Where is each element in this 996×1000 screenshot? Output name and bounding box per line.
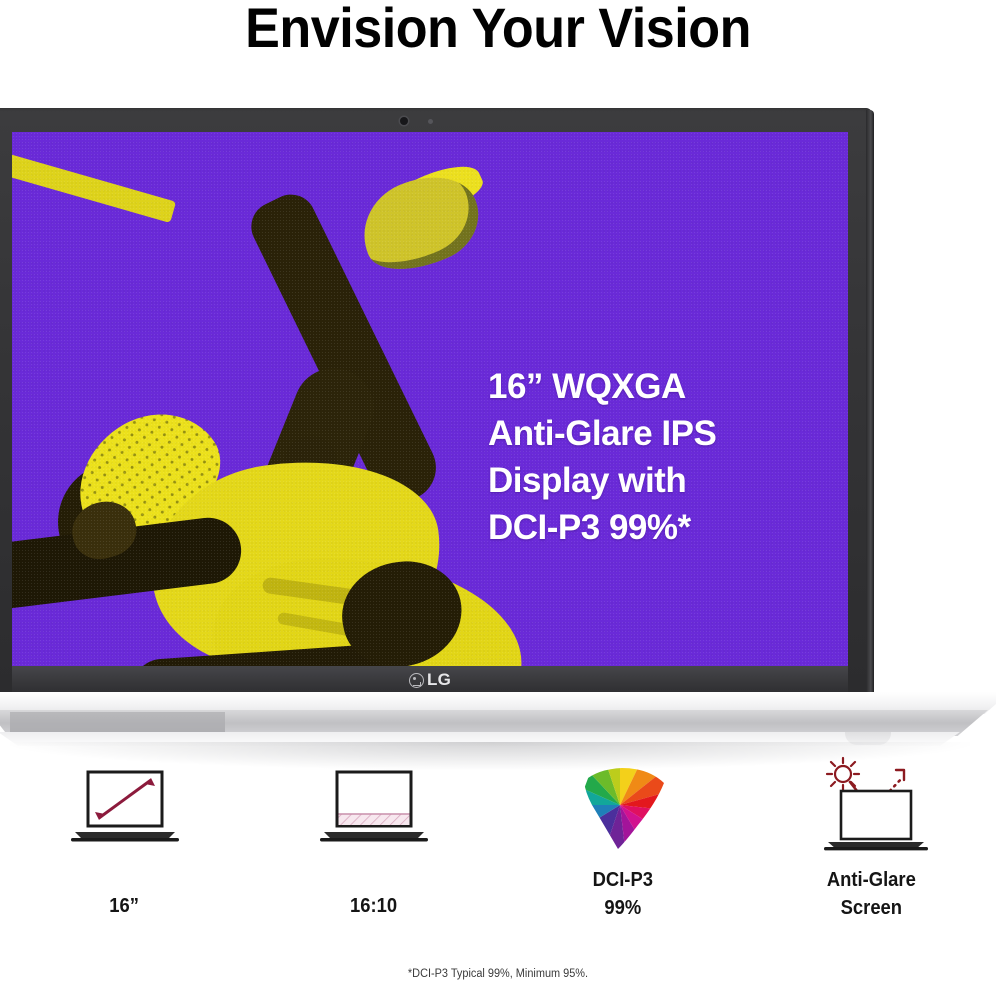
product-feature-banner: Envision Your Vision 1 — [0, 0, 996, 1000]
laptop-lid-right-edge — [866, 110, 874, 694]
color-gamut-triangle-icon — [568, 752, 678, 862]
laptop-illustration: 16” WQXGA Anti-Glare IPS Display with DC… — [0, 108, 996, 728]
laptop-base-strip — [10, 712, 225, 734]
feature-color-gamut: DCI-P3 99% — [498, 752, 747, 952]
webcam-icon — [400, 117, 408, 125]
webcam-sensor-icon — [428, 119, 433, 124]
feature-screen-size: 16” — [0, 752, 249, 952]
laptop-bottom-bezel: LG — [12, 666, 848, 694]
page-title: Envision Your Vision — [35, 0, 961, 60]
screen-copy-line: Anti-Glare IPS — [488, 411, 818, 458]
color-gamut-triangle-svg — [568, 759, 678, 855]
anti-glare-sun-reflection-svg — [810, 756, 934, 858]
feature-label: Anti-Glare Screen — [827, 866, 916, 923]
anti-glare-sun-reflection-icon — [810, 752, 934, 862]
screen-copy-line: DCI-P3 99%* — [488, 505, 818, 552]
screen-copy-line: Display with — [488, 458, 818, 505]
lg-logo-text: LG — [427, 670, 451, 690]
laptop-diagonal-measure-svg — [63, 764, 187, 850]
footnote-text: *DCI-P3 Typical 99%, Minimum 95%. — [25, 968, 971, 980]
feature-label: DCI-P3 99% — [592, 866, 652, 923]
feature-icon-row: 16” — [0, 752, 996, 952]
laptop-aspect-ratio-svg — [312, 764, 436, 850]
feature-anti-glare: Anti-Glare Screen — [747, 752, 996, 952]
laptop-screen: 16” WQXGA Anti-Glare IPS Display with DC… — [12, 132, 848, 666]
screen-copy-line: 16” WQXGA — [488, 364, 818, 411]
feature-aspect-ratio: 16:10 — [249, 752, 498, 952]
laptop-aspect-ratio-icon — [312, 752, 436, 862]
screen-overlay-copy: 16” WQXGA Anti-Glare IPS Display with DC… — [488, 364, 818, 552]
lg-logo-mark-icon — [409, 673, 424, 688]
feature-label: 16” — [110, 892, 140, 920]
feature-label: 16:10 — [350, 892, 397, 920]
laptop-diagonal-measure-icon — [63, 752, 187, 862]
photo-shape-yellow-bar — [12, 138, 176, 223]
